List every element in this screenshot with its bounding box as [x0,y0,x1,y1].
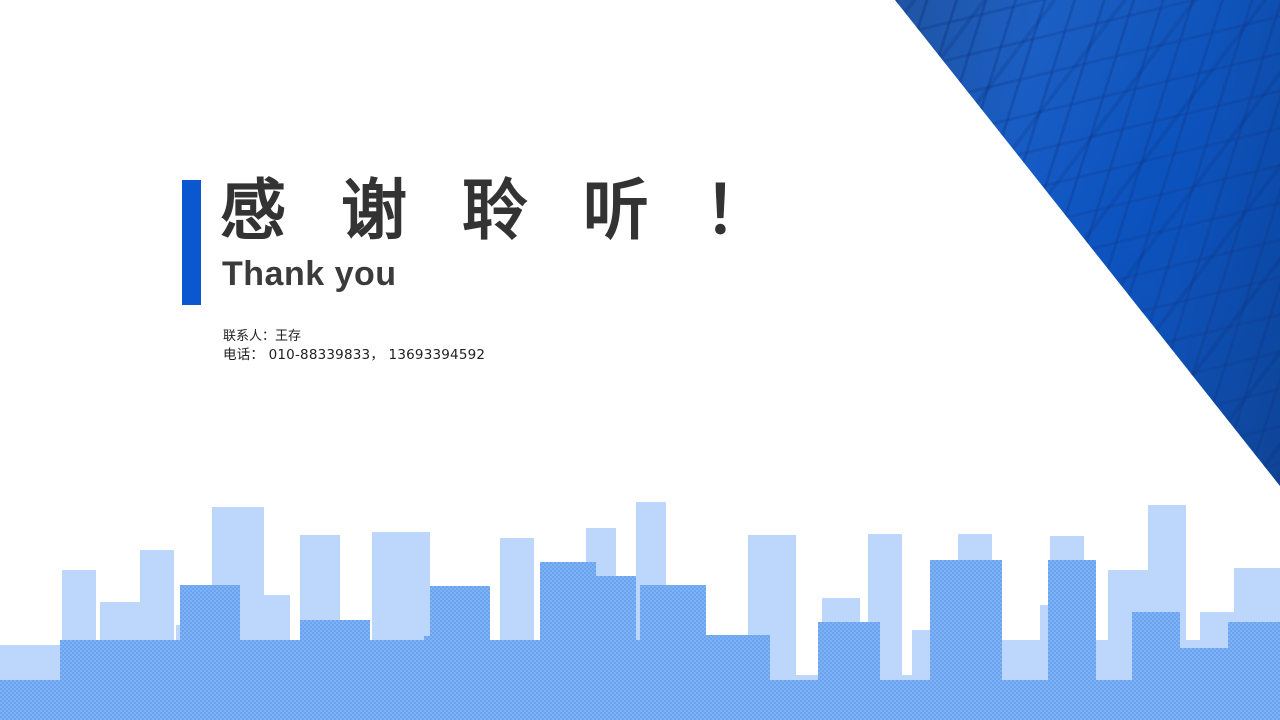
corner-building-photo [880,0,1280,500]
slide-canvas: 感 谢 聆 听 ！ Thank you 联系人：王存 电话： 010-88339… [0,0,1280,720]
photo-shading-overlay [880,0,1280,500]
contact-block: 联系人：王存 电话： 010-88339833， 13693394592 [223,327,485,365]
contact-phone-line: 电话： 010-88339833， 13693394592 [223,346,485,365]
skyline-svg [0,490,1280,720]
accent-bar [182,180,201,305]
page-title: 感 谢 聆 听 ！ [220,172,786,250]
headline-text-group: 感 谢 聆 听 ！ Thank you [220,172,786,293]
skyline-ground [0,680,1280,720]
city-skyline [0,490,1280,720]
page-subtitle: Thank you [222,256,786,293]
contact-person-line: 联系人：王存 [223,327,485,346]
